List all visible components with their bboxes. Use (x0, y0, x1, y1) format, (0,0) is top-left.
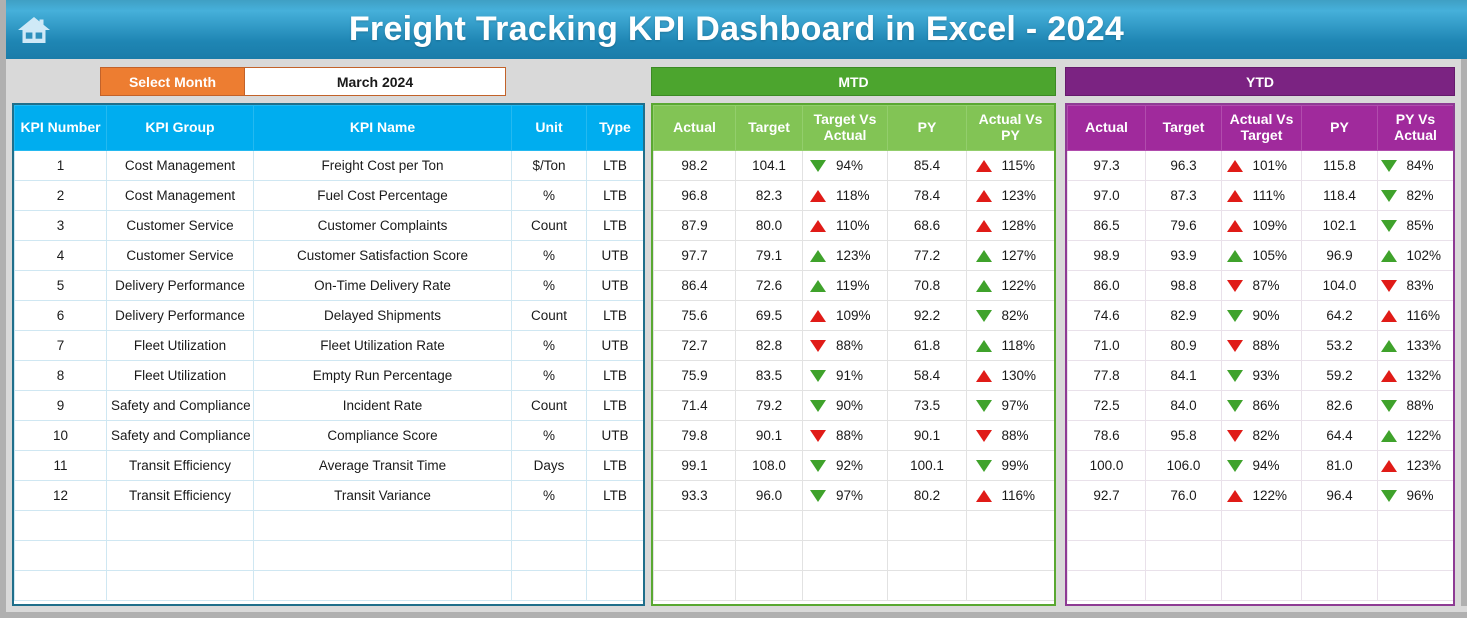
cell-kpi-number: 5 (15, 271, 107, 301)
home-icon (17, 15, 51, 45)
cell-mtd-actual: 79.8 (654, 421, 736, 451)
cell-ytd-py: 115.8 (1302, 151, 1378, 181)
cell-ytd-target (1146, 541, 1222, 571)
arrow-up-red-icon (976, 220, 992, 232)
arrow-up-red-icon (1381, 310, 1397, 322)
table-row: 98.2104.194%85.4115% (654, 151, 1055, 181)
cell-mtd-actual-vs-py (967, 541, 1055, 571)
arrow-down-green-icon (810, 160, 826, 172)
cell-ytd-target: 76.0 (1146, 481, 1222, 511)
arrow-down-green-icon (1227, 460, 1243, 472)
delta-percent: 119% (836, 278, 876, 293)
cell-kpi-name: Customer Complaints (254, 211, 512, 241)
arrow-up-red-icon (1381, 460, 1397, 472)
delta-percent: 88% (1002, 428, 1042, 443)
cell-ytd-py-vs-actual: 83% (1378, 271, 1454, 301)
cell-kpi-number: 7 (15, 331, 107, 361)
ytd-metrics-table: Actual Target Actual Vs Target PY PY Vs … (1065, 103, 1455, 606)
arrow-down-red-icon (976, 430, 992, 442)
cell-mtd-target-vs-actual: 88% (803, 421, 888, 451)
delta-percent: 109% (1253, 218, 1293, 233)
cell-ytd-actual-vs-target: 94% (1222, 451, 1302, 481)
delta-percent: 122% (1407, 428, 1447, 443)
cell-mtd-actual-vs-py: 88% (967, 421, 1055, 451)
cell-mtd-target: 83.5 (736, 361, 803, 391)
arrow-up-green-icon (810, 280, 826, 292)
cell-kpi-group: Cost Management (107, 181, 254, 211)
arrow-down-red-icon (810, 430, 826, 442)
table-row: 7Fleet UtilizationFleet Utilization Rate… (15, 331, 644, 361)
table-row (1068, 511, 1454, 541)
arrow-down-green-icon (1381, 190, 1397, 202)
arrow-down-green-icon (976, 460, 992, 472)
cell-ytd-actual: 72.5 (1068, 391, 1146, 421)
arrow-up-red-icon (976, 490, 992, 502)
cell-type (587, 541, 644, 571)
table-row: 97.779.1123%77.2127% (654, 241, 1055, 271)
cell-type: LTB (587, 361, 644, 391)
delta-percent: 105% (1253, 248, 1293, 263)
bottom-strip (6, 606, 1467, 612)
cell-mtd-target-vs-actual: 92% (803, 451, 888, 481)
cell-ytd-actual-vs-target: 111% (1222, 181, 1302, 211)
arrow-down-red-icon (1227, 280, 1243, 292)
arrow-down-red-icon (810, 340, 826, 352)
arrow-up-red-icon (1227, 160, 1243, 172)
cell-ytd-target: 84.0 (1146, 391, 1222, 421)
delta-percent: 102% (1407, 248, 1447, 263)
cell-type: UTB (587, 271, 644, 301)
cell-ytd-actual-vs-target: 122% (1222, 481, 1302, 511)
table-row: 74.682.990%64.2116% (1068, 301, 1454, 331)
table-row: 6Delivery PerformanceDelayed ShipmentsCo… (15, 301, 644, 331)
cell-mtd-actual-vs-py: 122% (967, 271, 1055, 301)
cell-mtd-py: 78.4 (888, 181, 967, 211)
cell-kpi-group (107, 511, 254, 541)
cell-mtd-py (888, 541, 967, 571)
cell-kpi-number: 8 (15, 361, 107, 391)
cell-mtd-py: 80.2 (888, 481, 967, 511)
arrow-up-red-icon (1381, 370, 1397, 382)
cell-ytd-actual: 97.0 (1068, 181, 1146, 211)
cell-mtd-actual-vs-py: 115% (967, 151, 1055, 181)
cell-mtd-target-vs-actual: 110% (803, 211, 888, 241)
delta-percent: 84% (1407, 158, 1447, 173)
cell-mtd-actual: 71.4 (654, 391, 736, 421)
table-row: 97.087.3111%118.482% (1068, 181, 1454, 211)
arrow-up-red-icon (1227, 490, 1243, 502)
cell-ytd-py-vs-actual: 122% (1378, 421, 1454, 451)
delta-percent: 99% (1002, 458, 1042, 473)
month-select[interactable]: March 2024 (245, 67, 506, 96)
delta-percent: 128% (1002, 218, 1042, 233)
col-mtd-target: Target (736, 106, 803, 151)
cell-mtd-actual: 75.9 (654, 361, 736, 391)
arrow-up-red-icon (976, 370, 992, 382)
delta-percent: 82% (1253, 428, 1293, 443)
cell-ytd-target: 84.1 (1146, 361, 1222, 391)
kpi-header-row: KPI Number KPI Group KPI Name Unit Type (15, 106, 644, 151)
col-mtd-py: PY (888, 106, 967, 151)
cell-mtd-actual: 75.6 (654, 301, 736, 331)
cell-ytd-target: 106.0 (1146, 451, 1222, 481)
col-unit: Unit (512, 106, 587, 151)
mtd-table-body: 98.2104.194%85.4115%96.882.3118%78.4123%… (654, 151, 1055, 601)
cell-ytd-py: 82.6 (1302, 391, 1378, 421)
arrow-up-red-icon (1227, 190, 1243, 202)
arrow-up-green-icon (976, 280, 992, 292)
cell-kpi-number: 11 (15, 451, 107, 481)
delta-percent: 88% (836, 428, 876, 443)
cell-kpi-group: Transit Efficiency (107, 481, 254, 511)
col-ytd-py-vs-actual: PY Vs Actual (1378, 106, 1454, 151)
cell-unit: Count (512, 301, 587, 331)
table-row: 8Fleet UtilizationEmpty Run Percentage%L… (15, 361, 644, 391)
kpi-table: KPI Number KPI Group KPI Name Unit Type … (14, 105, 644, 601)
cell-kpi-number: 12 (15, 481, 107, 511)
cell-ytd-py (1302, 541, 1378, 571)
cell-ytd-target: 96.3 (1146, 151, 1222, 181)
mtd-metrics-table: Actual Target Target Vs Actual PY Actual… (651, 103, 1056, 606)
delta-percent: 97% (1002, 398, 1042, 413)
cell-kpi-name: Average Transit Time (254, 451, 512, 481)
cell-ytd-py-vs-actual: 84% (1378, 151, 1454, 181)
arrow-up-green-icon (810, 250, 826, 262)
cell-mtd-py: 73.5 (888, 391, 967, 421)
ytd-table: Actual Target Actual Vs Target PY PY Vs … (1067, 105, 1454, 601)
cell-kpi-name: Transit Variance (254, 481, 512, 511)
arrow-up-green-icon (976, 340, 992, 352)
cell-ytd-target (1146, 571, 1222, 601)
cell-kpi-number (15, 571, 107, 601)
cell-ytd-actual: 98.9 (1068, 241, 1146, 271)
table-row: 78.695.882%64.4122% (1068, 421, 1454, 451)
arrow-down-green-icon (810, 400, 826, 412)
title-bar: Freight Tracking KPI Dashboard in Excel … (6, 0, 1467, 59)
cell-kpi-name: Compliance Score (254, 421, 512, 451)
delta-percent: 101% (1253, 158, 1293, 173)
cell-mtd-actual: 93.3 (654, 481, 736, 511)
cell-kpi-number (15, 511, 107, 541)
col-kpi-name: KPI Name (254, 106, 512, 151)
ytd-table-header: Actual Target Actual Vs Target PY PY Vs … (1068, 106, 1454, 151)
cell-ytd-actual: 77.8 (1068, 361, 1146, 391)
table-row: 72.584.086%82.688% (1068, 391, 1454, 421)
cell-ytd-py (1302, 511, 1378, 541)
mtd-table: Actual Target Target Vs Actual PY Actual… (653, 105, 1055, 601)
cell-mtd-target: 69.5 (736, 301, 803, 331)
cell-ytd-target: 93.9 (1146, 241, 1222, 271)
cell-ytd-py: 96.4 (1302, 481, 1378, 511)
delta-percent: 83% (1407, 278, 1447, 293)
cell-mtd-py: 90.1 (888, 421, 967, 451)
delta-percent: 88% (1407, 398, 1447, 413)
table-row (654, 511, 1055, 541)
cell-kpi-group: Safety and Compliance (107, 421, 254, 451)
cell-kpi-group: Fleet Utilization (107, 361, 254, 391)
table-row: 98.993.9105%96.9102% (1068, 241, 1454, 271)
cell-ytd-actual-vs-target: 109% (1222, 211, 1302, 241)
cell-mtd-actual (654, 571, 736, 601)
ytd-table-body: 97.396.3101%115.884%97.087.3111%118.482%… (1068, 151, 1454, 601)
arrow-up-red-icon (810, 310, 826, 322)
col-ytd-actual-vs-target: Actual Vs Target (1222, 106, 1302, 151)
cell-mtd-py: 68.6 (888, 211, 967, 241)
cell-mtd-actual: 87.9 (654, 211, 736, 241)
col-kpi-group: KPI Group (107, 106, 254, 151)
cell-mtd-py (888, 571, 967, 601)
cell-ytd-target: 95.8 (1146, 421, 1222, 451)
table-row: 99.1108.092%100.199% (654, 451, 1055, 481)
cell-mtd-target (736, 511, 803, 541)
cell-ytd-py-vs-actual: 123% (1378, 451, 1454, 481)
cell-ytd-py-vs-actual: 133% (1378, 331, 1454, 361)
cell-mtd-target-vs-actual (803, 511, 888, 541)
arrow-down-green-icon (1227, 310, 1243, 322)
cell-mtd-actual (654, 541, 736, 571)
cell-mtd-target-vs-actual: 90% (803, 391, 888, 421)
cell-mtd-py: 58.4 (888, 361, 967, 391)
cell-unit: Count (512, 391, 587, 421)
cell-unit: Days (512, 451, 587, 481)
cell-ytd-py-vs-actual: 132% (1378, 361, 1454, 391)
table-row: 3Customer ServiceCustomer ComplaintsCoun… (15, 211, 644, 241)
cell-kpi-group: Fleet Utilization (107, 331, 254, 361)
delta-percent: 109% (836, 308, 876, 323)
table-row: 71.479.290%73.597% (654, 391, 1055, 421)
cell-type: LTB (587, 391, 644, 421)
cell-mtd-target-vs-actual: 94% (803, 151, 888, 181)
arrow-down-green-icon (810, 370, 826, 382)
delta-percent: 90% (836, 398, 876, 413)
cell-ytd-actual: 74.6 (1068, 301, 1146, 331)
arrow-up-green-icon (976, 250, 992, 262)
cell-ytd-py: 81.0 (1302, 451, 1378, 481)
cell-ytd-py-vs-actual (1378, 541, 1454, 571)
cell-kpi-group (107, 541, 254, 571)
cell-mtd-actual-vs-py: 118% (967, 331, 1055, 361)
table-row: 93.396.097%80.2116% (654, 481, 1055, 511)
delta-percent: 82% (1002, 308, 1042, 323)
cell-ytd-actual (1068, 571, 1146, 601)
arrow-up-red-icon (810, 220, 826, 232)
table-row (15, 511, 644, 541)
cell-ytd-actual-vs-target: 101% (1222, 151, 1302, 181)
kpi-table-body: 1Cost ManagementFreight Cost per Ton$/To… (15, 151, 644, 601)
cell-kpi-group: Transit Efficiency (107, 451, 254, 481)
cell-kpi-number: 4 (15, 241, 107, 271)
arrow-down-red-icon (1227, 340, 1243, 352)
cell-unit: Count (512, 211, 587, 241)
arrow-up-green-icon (1227, 250, 1243, 262)
cell-ytd-actual-vs-target: 86% (1222, 391, 1302, 421)
table-row: 100.0106.094%81.0123% (1068, 451, 1454, 481)
cell-unit: % (512, 241, 587, 271)
cell-mtd-actual-vs-py: 123% (967, 181, 1055, 211)
delta-percent: 82% (1407, 188, 1447, 203)
cell-kpi-number: 1 (15, 151, 107, 181)
delta-percent: 110% (836, 218, 876, 233)
col-kpi-number: KPI Number (15, 106, 107, 151)
cell-unit: $/Ton (512, 151, 587, 181)
table-row: 96.882.3118%78.4123% (654, 181, 1055, 211)
delta-percent: 92% (836, 458, 876, 473)
table-row: 77.884.193%59.2132% (1068, 361, 1454, 391)
cell-ytd-py-vs-actual: 88% (1378, 391, 1454, 421)
cell-unit: % (512, 331, 587, 361)
cell-kpi-group: Customer Service (107, 211, 254, 241)
delta-percent: 88% (836, 338, 876, 353)
cell-ytd-actual-vs-target (1222, 541, 1302, 571)
table-row: 79.890.188%90.188% (654, 421, 1055, 451)
delta-percent: 88% (1253, 338, 1293, 353)
arrow-up-red-icon (1227, 220, 1243, 232)
cell-unit: % (512, 361, 587, 391)
cell-ytd-py: 118.4 (1302, 181, 1378, 211)
cell-mtd-py: 85.4 (888, 151, 967, 181)
cell-mtd-target-vs-actual: 118% (803, 181, 888, 211)
cell-mtd-actual-vs-py (967, 571, 1055, 601)
table-row: 75.983.591%58.4130% (654, 361, 1055, 391)
cell-ytd-py-vs-actual (1378, 571, 1454, 601)
arrow-up-red-icon (976, 160, 992, 172)
table-row: 12Transit EfficiencyTransit Variance%LTB (15, 481, 644, 511)
cell-ytd-actual-vs-target (1222, 511, 1302, 541)
cell-mtd-target: 96.0 (736, 481, 803, 511)
select-month-label: Select Month (100, 67, 245, 96)
delta-percent: 133% (1407, 338, 1447, 353)
arrow-down-green-icon (810, 460, 826, 472)
home-button[interactable] (6, 0, 62, 59)
cell-ytd-actual: 86.5 (1068, 211, 1146, 241)
selector-row: Select Month March 2024 MTD YTD (6, 59, 1467, 103)
delta-percent: 118% (1002, 338, 1042, 353)
cell-ytd-actual-vs-target (1222, 571, 1302, 601)
delta-percent: 115% (1002, 158, 1042, 173)
delta-percent: 90% (1253, 308, 1293, 323)
table-row (15, 541, 644, 571)
cell-type: LTB (587, 481, 644, 511)
arrow-down-red-icon (1227, 430, 1243, 442)
arrow-down-green-icon (1381, 400, 1397, 412)
table-row (15, 571, 644, 601)
arrow-down-green-icon (1227, 400, 1243, 412)
cell-kpi-number: 10 (15, 421, 107, 451)
cell-mtd-actual: 98.2 (654, 151, 736, 181)
arrow-down-red-icon (1381, 280, 1397, 292)
col-mtd-target-vs-actual: Target Vs Actual (803, 106, 888, 151)
cell-kpi-name: Delayed Shipments (254, 301, 512, 331)
cell-ytd-py: 96.9 (1302, 241, 1378, 271)
col-ytd-actual: Actual (1068, 106, 1146, 151)
cell-kpi-group: Delivery Performance (107, 271, 254, 301)
cell-kpi-name (254, 571, 512, 601)
cell-ytd-target: 87.3 (1146, 181, 1222, 211)
cell-ytd-target: 98.8 (1146, 271, 1222, 301)
cell-mtd-target: 82.3 (736, 181, 803, 211)
table-row: 87.980.0110%68.6128% (654, 211, 1055, 241)
cell-mtd-target (736, 571, 803, 601)
cell-kpi-number (15, 541, 107, 571)
arrow-up-green-icon (1381, 430, 1397, 442)
cell-mtd-target: 79.2 (736, 391, 803, 421)
delta-percent: 94% (836, 158, 876, 173)
table-row (1068, 541, 1454, 571)
cell-ytd-py: 64.2 (1302, 301, 1378, 331)
delta-percent: 86% (1253, 398, 1293, 413)
arrow-up-red-icon (976, 190, 992, 202)
cell-ytd-actual: 92.7 (1068, 481, 1146, 511)
cell-ytd-py: 102.1 (1302, 211, 1378, 241)
cell-ytd-py-vs-actual: 85% (1378, 211, 1454, 241)
cell-unit: % (512, 181, 587, 211)
delta-percent: 118% (836, 188, 876, 203)
delta-percent: 122% (1002, 278, 1042, 293)
table-row: 1Cost ManagementFreight Cost per Ton$/To… (15, 151, 644, 181)
mtd-section-band: MTD (651, 67, 1056, 96)
cell-ytd-actual-vs-target: 88% (1222, 331, 1302, 361)
cell-mtd-target: 80.0 (736, 211, 803, 241)
cell-mtd-py (888, 511, 967, 541)
table-row: 4Customer ServiceCustomer Satisfaction S… (15, 241, 644, 271)
arrow-up-green-icon (1381, 340, 1397, 352)
delta-percent: 94% (1253, 458, 1293, 473)
cell-kpi-group: Delivery Performance (107, 301, 254, 331)
cell-mtd-target-vs-actual: 88% (803, 331, 888, 361)
arrow-down-green-icon (810, 490, 826, 502)
delta-percent: 97% (836, 488, 876, 503)
delta-percent: 116% (1002, 488, 1042, 503)
table-row (654, 541, 1055, 571)
table-row: 97.396.3101%115.884% (1068, 151, 1454, 181)
cell-type (587, 571, 644, 601)
delta-percent: 85% (1407, 218, 1447, 233)
cell-unit (512, 511, 587, 541)
cell-mtd-target-vs-actual: 97% (803, 481, 888, 511)
cell-ytd-actual: 100.0 (1068, 451, 1146, 481)
cell-ytd-target: 80.9 (1146, 331, 1222, 361)
cell-mtd-actual: 96.8 (654, 181, 736, 211)
delta-percent: 87% (1253, 278, 1293, 293)
cell-kpi-number: 9 (15, 391, 107, 421)
table-row: 75.669.5109%92.282% (654, 301, 1055, 331)
cell-mtd-py: 77.2 (888, 241, 967, 271)
cell-ytd-py: 59.2 (1302, 361, 1378, 391)
cell-mtd-actual (654, 511, 736, 541)
ytd-header-row: Actual Target Actual Vs Target PY PY Vs … (1068, 106, 1454, 151)
cell-mtd-target-vs-actual: 123% (803, 241, 888, 271)
arrow-down-green-icon (1381, 220, 1397, 232)
table-row: 9Safety and ComplianceIncident RateCount… (15, 391, 644, 421)
col-type: Type (587, 106, 644, 151)
cell-ytd-actual-vs-target: 90% (1222, 301, 1302, 331)
cell-ytd-actual: 97.3 (1068, 151, 1146, 181)
cell-kpi-name: Fleet Utilization Rate (254, 331, 512, 361)
cell-type: LTB (587, 181, 644, 211)
cell-kpi-number: 6 (15, 301, 107, 331)
cell-ytd-py-vs-actual: 116% (1378, 301, 1454, 331)
table-row (1068, 571, 1454, 601)
kpi-table-header: KPI Number KPI Group KPI Name Unit Type (15, 106, 644, 151)
cell-ytd-py: 104.0 (1302, 271, 1378, 301)
cell-unit (512, 541, 587, 571)
cell-type: UTB (587, 241, 644, 271)
cell-type: LTB (587, 211, 644, 241)
cell-mtd-target: 104.1 (736, 151, 803, 181)
cell-ytd-py-vs-actual: 82% (1378, 181, 1454, 211)
cell-mtd-actual-vs-py: 130% (967, 361, 1055, 391)
cell-mtd-actual-vs-py: 127% (967, 241, 1055, 271)
